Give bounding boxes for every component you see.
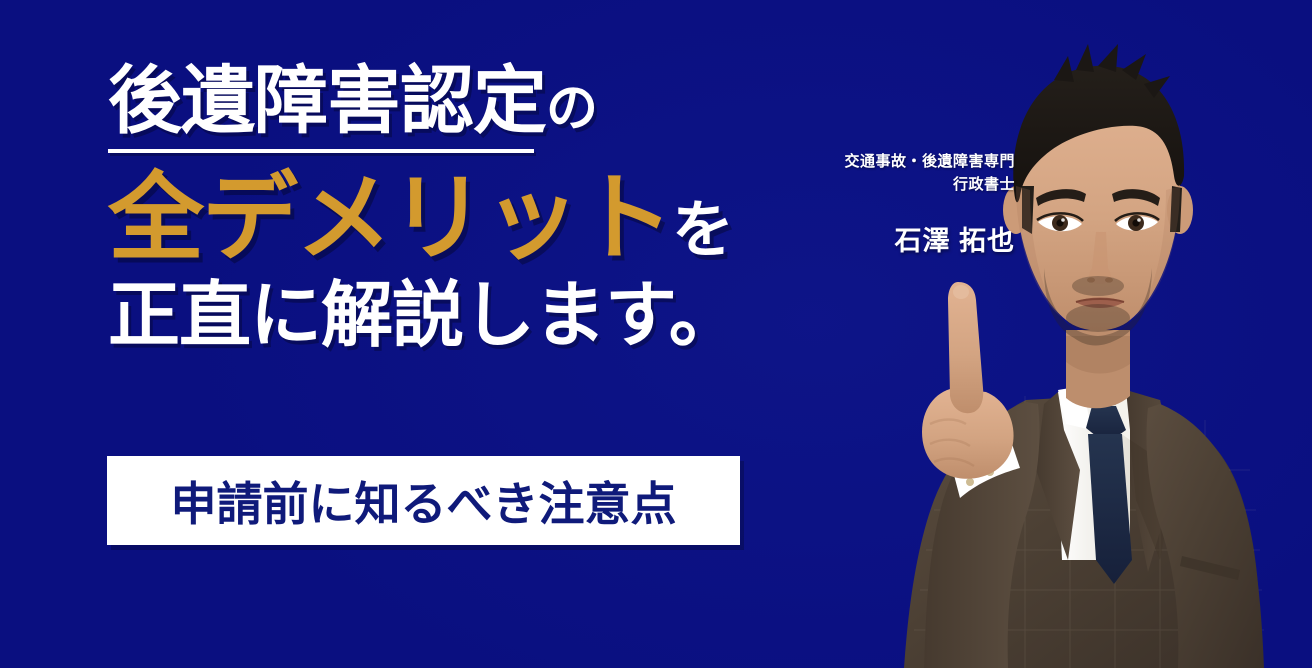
credential-name: 石澤 拓也 (844, 219, 1015, 258)
credentials-block: 交通事故・後遺障害専門 行政書士 石澤 拓也 (844, 150, 1015, 258)
headline-divider-rule (108, 149, 534, 153)
headline-line-3: 正直に解説します。 (108, 279, 808, 355)
subtitle-banner-text: 申請前に知るべき注意点 (171, 468, 677, 534)
credential-qualification: 行政書士 (844, 173, 1015, 196)
headline-block: 後遺障害認定の 全デメリットを 正直に解説します。 (108, 64, 808, 355)
headline-line-2-white: を (672, 196, 734, 265)
credential-specialty: 交通事故・後遺障害専門 (844, 150, 1015, 173)
subtitle-banner: 申請前に知るべき注意点 (107, 456, 740, 545)
headline-line-1-suffix: の (546, 80, 598, 138)
headline-line-1: 後遺障害認定の (108, 64, 808, 138)
headline-line-1-main: 後遺障害認定 (108, 59, 546, 142)
headline-line-2: 全デメリットを (108, 171, 808, 267)
banner-image-root: 後遺障害認定の 全デメリットを 正直に解説します。 申請前に知るべき注意点 交通… (0, 0, 1312, 668)
headline-line-2-gold: 全デメリット (108, 165, 672, 272)
